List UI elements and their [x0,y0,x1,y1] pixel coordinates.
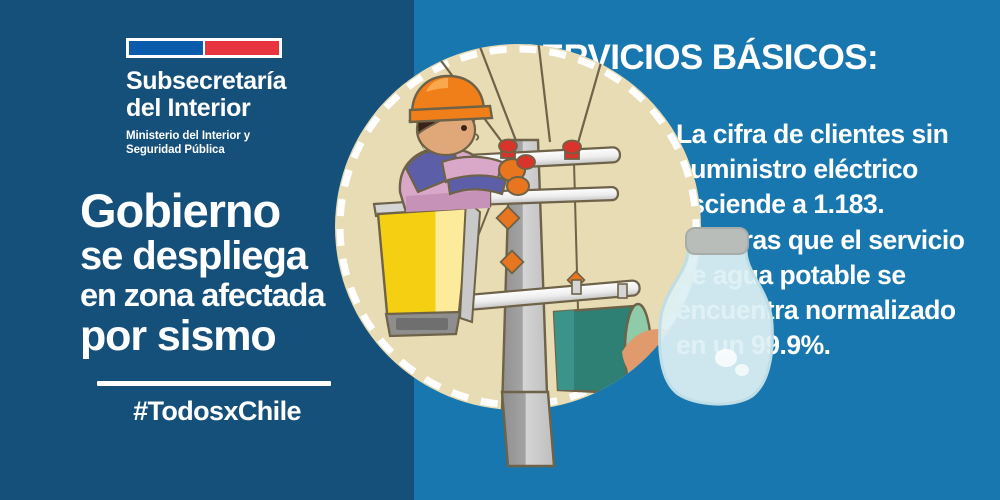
chile-flag-bar-icon [126,38,282,58]
government-logo: Subsecretaría del Interior Ministerio de… [126,38,296,158]
logo-title-line2: del Interior [126,95,296,122]
campaign-hashtag: #TodosxChile [97,396,337,427]
logo-title-line1: Subsecretaría [126,68,296,95]
flag-blue-block [128,40,204,56]
illustration [322,22,792,482]
bottle-highlight-2 [735,364,749,376]
cherry-picker-bucket [374,198,480,336]
logo-subtitle: Ministerio del Interior y Seguridad Públ… [126,129,296,158]
flag-red-block [204,40,280,56]
logo-subtitle-line2: Seguridad Pública [126,143,296,157]
infographic-poster: Subsecretaría del Interior Ministerio de… [0,0,1000,500]
headline-divider [97,381,331,386]
bottle-highlight-1 [715,349,737,367]
logo-subtitle-line1: Ministerio del Interior y [126,129,296,143]
logo-title: Subsecretaría del Interior [126,68,296,122]
bottle-cap [686,228,748,254]
utility-pole-base [502,392,554,466]
